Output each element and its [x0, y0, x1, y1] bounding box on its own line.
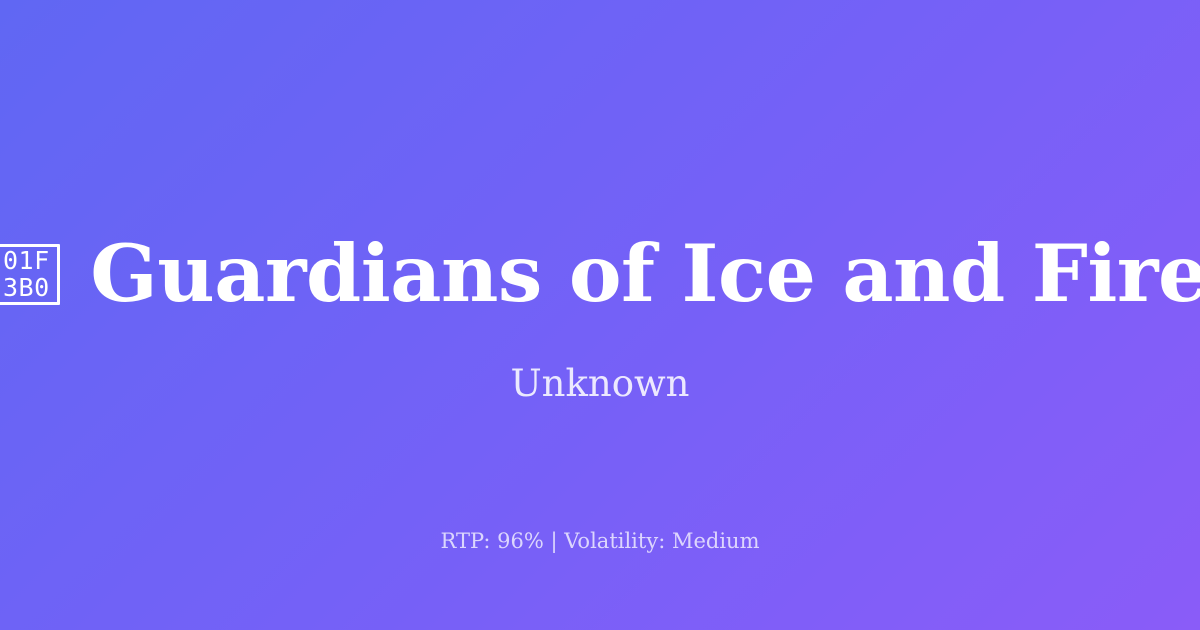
og-share-card: 01F 3B0 Guardians of Ice and Fire Unknow…: [0, 0, 1200, 630]
tofu-codepoint-bottom: 3B0: [3, 275, 50, 300]
title-row: 01F 3B0 Guardians of Ice and Fire: [0, 233, 1200, 316]
game-meta-line: RTP: 96% | Volatility: Medium: [0, 528, 1200, 555]
slot-machine-icon: 01F 3B0: [0, 244, 60, 305]
tofu-codepoint-top: 01F: [3, 248, 50, 273]
page-title: Guardians of Ice and Fire: [90, 233, 1200, 316]
page-subtitle: Unknown: [0, 362, 1200, 406]
